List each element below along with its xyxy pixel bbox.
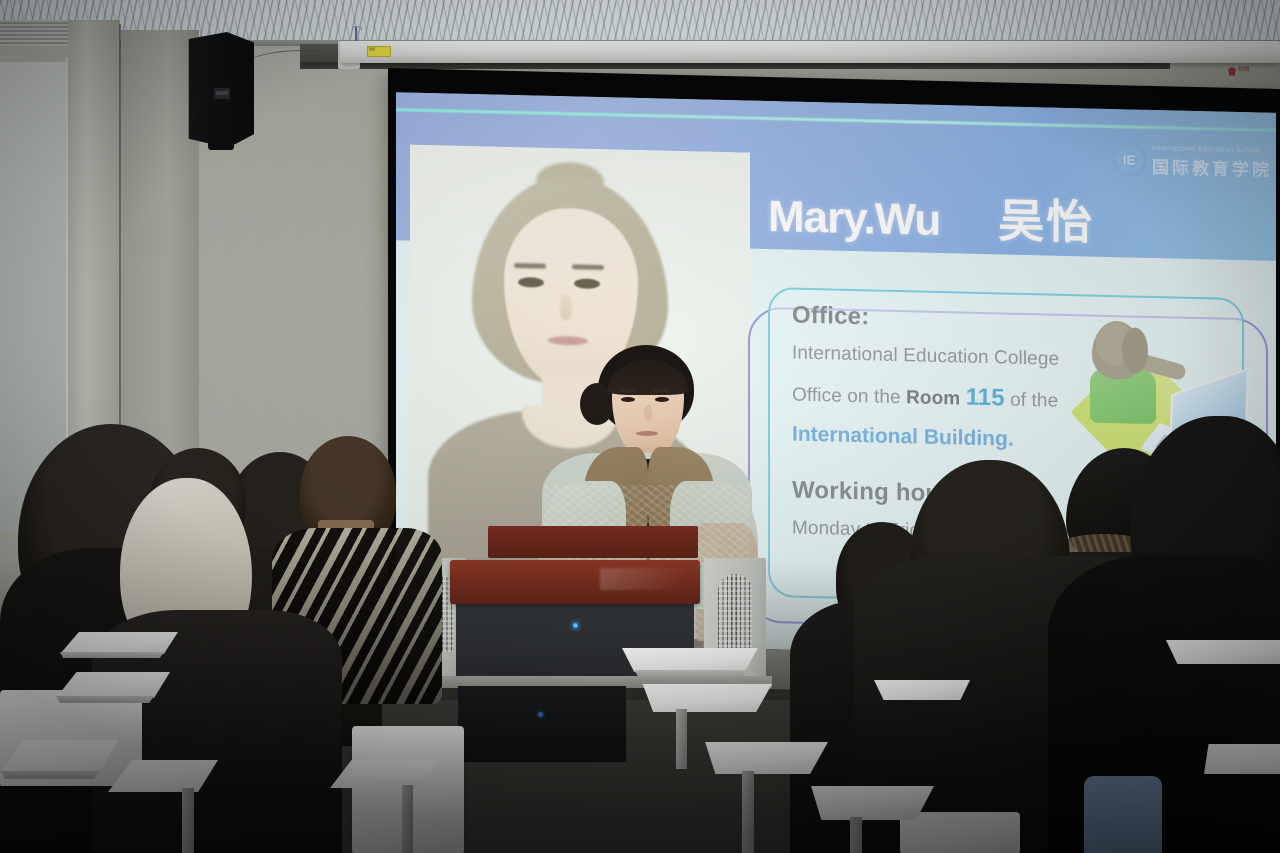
portrait-eyebrow-left	[514, 263, 546, 269]
podium-power-led	[572, 622, 579, 629]
desk-right-front-post	[850, 817, 862, 853]
podium-back-rail	[488, 526, 698, 558]
portrait-eye-right	[574, 278, 600, 289]
desk-right-mid-surface	[1166, 640, 1280, 664]
desk-center-edge	[634, 670, 748, 677]
desk-left-mid-2-post	[402, 785, 413, 853]
podium-base	[458, 686, 626, 762]
office-line-2: Office on the Room 115 of the	[792, 380, 1232, 418]
chairback-right-1[interactable]	[900, 812, 1020, 853]
desk-left-front-2-post	[182, 788, 194, 853]
desk-left-mid-edge	[56, 696, 154, 703]
slide-title-english: Mary.Wu	[768, 192, 940, 246]
desk-left-front-edge	[0, 771, 100, 779]
slide-title-chinese: 吴怡	[998, 184, 1094, 252]
desk-left-mid-2-surface	[330, 760, 438, 788]
desk-right-front-surface	[806, 786, 934, 820]
slide-title: Mary.Wu 吴怡	[768, 179, 1094, 253]
office-line-1: International Education College	[792, 343, 1232, 375]
desk-left-back-edge	[60, 652, 164, 658]
school-logo: IE International Education School 国际教育学院	[1112, 133, 1264, 189]
audience-foreground-right-body	[1048, 556, 1280, 853]
presenter-eye-left	[621, 397, 635, 402]
desk-right-far-surface	[1204, 744, 1280, 774]
screen-warning-label: 注意	[367, 46, 391, 57]
classroom-photo: 校徽 注意 IE International Education Sc	[0, 0, 1280, 853]
speaker-brand-badge	[214, 88, 230, 99]
projector-screen-housing	[340, 41, 1280, 63]
desk-center-3-post	[742, 771, 754, 853]
presenter-nose	[644, 405, 652, 421]
school-name-chinese: 国际教育学院	[1152, 153, 1272, 181]
logo-monogram: IE	[1112, 142, 1146, 177]
desk-left-back-surface	[60, 632, 178, 654]
left-window-blind	[0, 20, 72, 46]
office-line-2-room: Room	[906, 387, 966, 409]
podium-grille-right	[718, 574, 752, 652]
office-room-number: 115	[966, 384, 1005, 412]
speaker-bracket	[208, 142, 234, 150]
presenter-eye-right	[655, 397, 669, 402]
desk-center-2-surface	[640, 684, 772, 712]
desk-center-2-post	[676, 709, 687, 769]
desk-center-3-surface	[700, 742, 828, 774]
school-logo-icon: IE	[1112, 142, 1146, 177]
desk-center-surface	[622, 648, 758, 672]
wall-logo-mark: 校徽	[1228, 63, 1272, 79]
wall-logo-icon	[1228, 67, 1236, 76]
portrait-nose	[560, 294, 572, 320]
office-line-2-post: of the	[1005, 390, 1059, 412]
podium-base-led	[538, 712, 543, 717]
desk-right-back-surface	[874, 680, 970, 700]
portrait-eyebrow-right	[572, 264, 604, 270]
presenter-mouth	[636, 431, 658, 436]
ceiling-soffit-lip	[300, 62, 1280, 69]
wall-logo-text: 校徽	[1238, 68, 1250, 74]
portrait-eye-left	[518, 277, 544, 288]
audience-right-jeans	[1084, 776, 1162, 853]
school-logo-text: International Education School 国际教育学院	[1152, 143, 1272, 181]
wall-speaker	[186, 32, 254, 148]
presenter-eyebrow-right	[653, 389, 670, 392]
office-line-2-pre: Office on the	[792, 385, 906, 409]
podium-top-rail	[450, 560, 700, 604]
podium	[400, 522, 820, 762]
presenter-eyebrow-left	[619, 389, 636, 392]
